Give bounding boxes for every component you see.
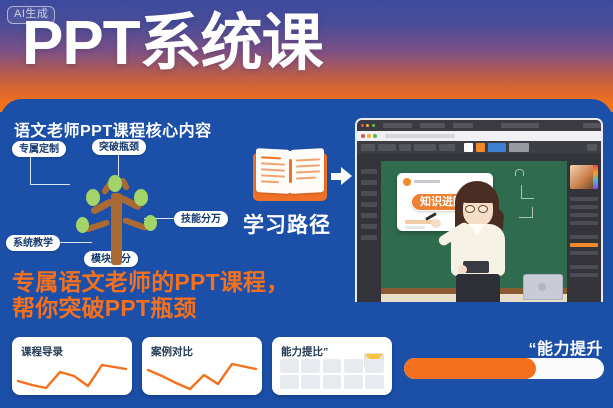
layer-item[interactable] <box>361 169 377 174</box>
grid-cell <box>323 359 342 373</box>
panel-row[interactable] <box>570 197 598 201</box>
book-bookmark <box>289 159 292 183</box>
toolbar-button[interactable] <box>414 144 436 151</box>
book-page-right <box>290 148 324 194</box>
editor-right-panel <box>567 161 601 302</box>
sparkline-chart-1 <box>16 359 128 391</box>
editor-left-toolbar <box>357 161 381 302</box>
editor-titlebar <box>357 120 601 131</box>
toolbar-button[interactable] <box>399 144 411 151</box>
layer-item[interactable] <box>361 235 377 240</box>
grid-cell <box>323 375 342 389</box>
sparkline-chart-2 <box>146 359 258 391</box>
editor-tab[interactable] <box>420 123 445 128</box>
panel-row[interactable] <box>570 243 598 247</box>
progress-bar-track[interactable] <box>404 358 604 379</box>
grid-cell <box>344 359 363 373</box>
book-text-line <box>261 174 285 177</box>
grid-cell <box>365 375 384 389</box>
editor-address-bar[interactable] <box>357 131 601 141</box>
browser-dot <box>367 134 371 138</box>
book-text-line <box>296 177 316 180</box>
color-swatch-gray[interactable] <box>509 143 529 152</box>
tree-label-system: 系统教学 <box>6 235 60 251</box>
editor-tab[interactable] <box>453 123 473 128</box>
book-text-line <box>261 156 281 159</box>
learning-path-block: 学习路径 <box>243 147 351 252</box>
slide-logo-icon <box>403 178 411 186</box>
card-case-comparison[interactable]: 案例对比 <box>142 337 262 395</box>
section-title: 语文老师PPT课程核心内容 <box>14 117 212 141</box>
editor-canvas: 知识进阶 <box>357 161 601 302</box>
toolbar-button[interactable] <box>587 144 597 151</box>
grid-cell <box>301 375 320 389</box>
panel-row[interactable] <box>570 273 598 277</box>
window-close-dot[interactable] <box>361 124 364 128</box>
tree-graphic <box>64 165 174 265</box>
arrow-right-icon <box>331 167 351 185</box>
url-placeholder <box>385 134 455 138</box>
tree-leaf <box>108 175 122 192</box>
ai-generated-badge: AI生成 <box>7 6 55 24</box>
layer-item[interactable] <box>361 224 377 229</box>
chalk-drawing <box>515 169 524 176</box>
editor-tab[interactable] <box>383 123 412 128</box>
toolbar-button[interactable] <box>439 144 455 151</box>
book-text-line <box>261 168 285 171</box>
teacher-skirt <box>456 274 500 302</box>
hero-header: AI生成 PPT系统课 <box>0 0 613 112</box>
window-minimize-dot[interactable] <box>366 124 369 128</box>
window-maximize-dot[interactable] <box>372 124 375 128</box>
browser-dot <box>373 134 377 138</box>
placeholder-grid <box>280 359 384 389</box>
tree-label-custom: 专属定制 <box>12 141 66 157</box>
grid-cell <box>280 375 299 389</box>
slide-footer-line <box>405 226 425 229</box>
toolbar-button[interactable] <box>378 144 396 151</box>
card-title: 能力提比” <box>281 344 328 359</box>
main-panel: 语文老师PPT课程核心内容 专属定制 突破瓶颈 技能分万 系统教学 模块划分 <box>0 99 613 408</box>
editor-toolbar <box>357 141 601 154</box>
card-title: 案例对比 <box>151 344 193 359</box>
teacher-glasses-right <box>478 205 488 213</box>
color-swatch-white[interactable] <box>464 143 473 152</box>
color-swatch-orange[interactable] <box>476 143 485 152</box>
toolbar-button[interactable] <box>361 144 375 151</box>
editor-tab[interactable] <box>501 123 538 128</box>
layer-item[interactable] <box>361 191 377 196</box>
tree-leaf <box>144 215 157 231</box>
laptop-logo <box>538 283 546 291</box>
panel-row[interactable] <box>570 221 598 225</box>
promo-headline: 专属语文老师的PPT课程， 帮你突破PPT瓶颈 <box>12 269 289 321</box>
editor-options-bar <box>357 154 601 161</box>
teacher-hand-lower <box>458 265 467 274</box>
card-title: 课程导录 <box>21 344 63 359</box>
chalk-drawing <box>521 185 534 199</box>
tree-leaf <box>86 189 100 206</box>
grid-cell <box>301 359 320 373</box>
book-page-left <box>256 148 290 194</box>
panel-row[interactable] <box>570 213 598 217</box>
grid-cell <box>280 359 299 373</box>
connector-custom <box>30 156 31 184</box>
panel-row[interactable] <box>570 251 598 255</box>
teacher-holding-book <box>463 261 489 273</box>
card-ability-comparison[interactable]: 能力提比” <box>272 337 392 395</box>
layer-item[interactable] <box>361 213 377 218</box>
progress-bar-fill <box>404 358 536 379</box>
editor-window-controls[interactable] <box>583 123 602 128</box>
slide-logo-text <box>414 180 440 183</box>
grid-cell <box>344 375 363 389</box>
grid-cell <box>365 359 384 373</box>
book-text-line <box>261 180 279 182</box>
book-text-line <box>296 164 320 167</box>
tree-label-skill: 技能分万 <box>174 211 228 227</box>
open-book-icon <box>253 147 327 203</box>
color-swatch-blue[interactable] <box>488 143 506 152</box>
tree-label-breakthrough: 突破瓶颈 <box>92 139 146 155</box>
color-hue-strip[interactable] <box>593 165 598 189</box>
browser-dot <box>361 134 365 138</box>
layer-item[interactable] <box>361 180 377 185</box>
teacher-fringe <box>461 187 496 203</box>
teacher-hand <box>431 219 441 228</box>
tree-leaf <box>134 189 148 206</box>
chalk-drawing <box>519 207 533 218</box>
page-title: PPT系统课 <box>22 8 323 80</box>
feature-cards: 课程导录 案例对比 能力提比” <box>12 337 392 395</box>
panel-row[interactable] <box>570 265 598 269</box>
learning-path-label: 学习路径 <box>243 209 331 239</box>
editor-window-mockup: 知识进阶 <box>355 118 603 302</box>
card-course-index[interactable]: 课程导录 <box>12 337 132 395</box>
layer-item[interactable] <box>361 202 377 207</box>
ability-boost-label: “能力提升 <box>528 335 603 359</box>
laptop-illustration <box>521 274 565 302</box>
teacher-illustration <box>441 179 519 302</box>
tree-leaf <box>76 217 89 233</box>
promo-headline-line2: 帮你突破PPT瓶颈 <box>12 295 289 321</box>
arrow-head <box>341 167 352 185</box>
panel-row[interactable] <box>570 235 598 239</box>
panel-row[interactable] <box>570 205 598 209</box>
promo-headline-line1: 专属语文老师的PPT课程， <box>12 269 289 295</box>
book-text-line <box>296 158 320 161</box>
book-text-line <box>261 162 285 165</box>
book-text-line <box>296 170 320 173</box>
teacher-glasses-left <box>465 205 475 213</box>
tree-diagram: 专属定制 突破瓶颈 技能分万 系统教学 模块划分 <box>6 139 246 259</box>
